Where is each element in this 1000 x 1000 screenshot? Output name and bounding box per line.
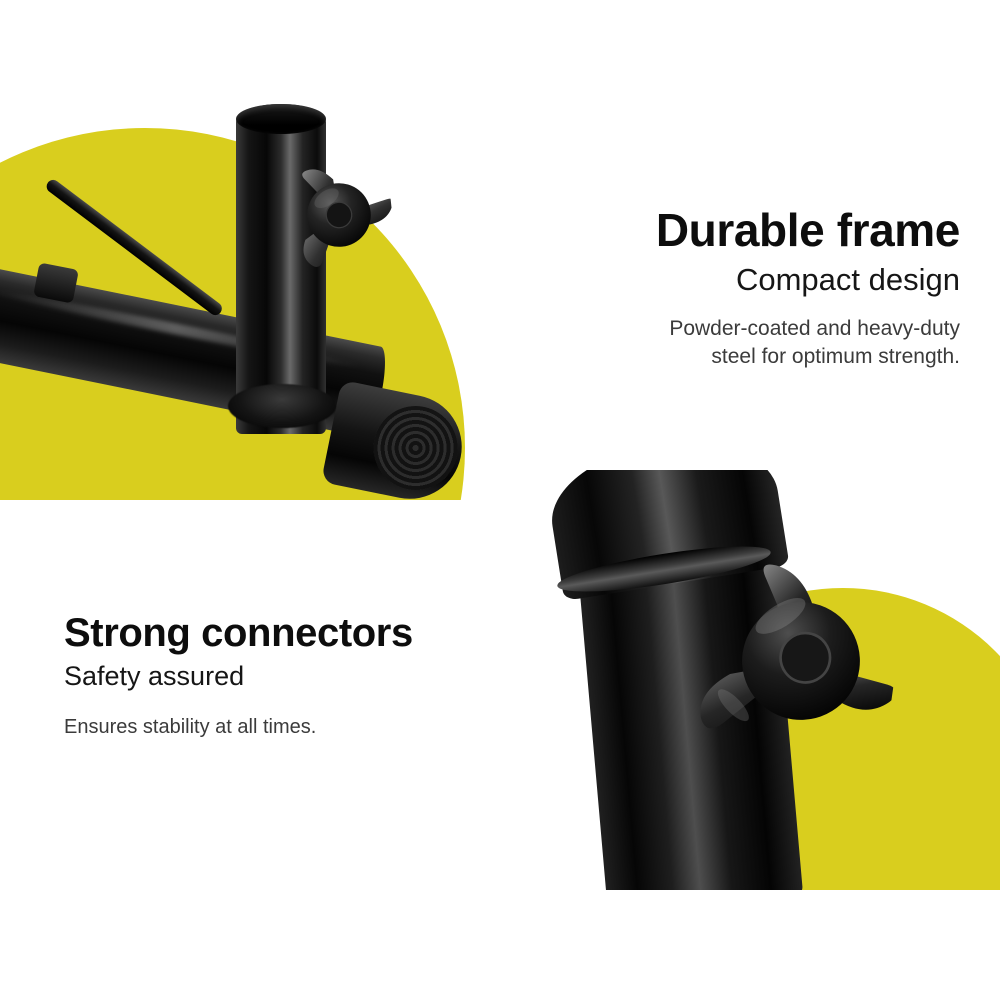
- tube-rim: [236, 104, 326, 134]
- feature-body: Powder-coated and heavy-duty steel for o…: [530, 315, 960, 370]
- product-photo-frame-joint: [0, 0, 500, 500]
- feature-title: Durable frame: [530, 206, 960, 255]
- feature-text-durable-frame: Durable frame Compact design Powder-coat…: [530, 206, 960, 370]
- feature-title: Strong connectors: [64, 612, 504, 654]
- brace-foot-block: [33, 262, 79, 303]
- feature-subtitle: Safety assured: [64, 661, 504, 691]
- feature-body-line-2: steel for optimum strength.: [711, 345, 960, 368]
- weld-collar: [228, 384, 336, 428]
- feature-body: Ensures stability at all times.: [64, 714, 504, 740]
- feature-subtitle: Compact design: [530, 263, 960, 298]
- product-photo-connector-knob: [500, 470, 1000, 890]
- infographic-page: Durable frame Compact design Powder-coat…: [0, 0, 1000, 1000]
- lower-tube: [578, 557, 803, 890]
- feature-text-strong-connectors: Strong connectors Safety assured Ensures…: [64, 612, 504, 740]
- feature-body-line-1: Powder-coated and heavy-duty: [669, 317, 960, 340]
